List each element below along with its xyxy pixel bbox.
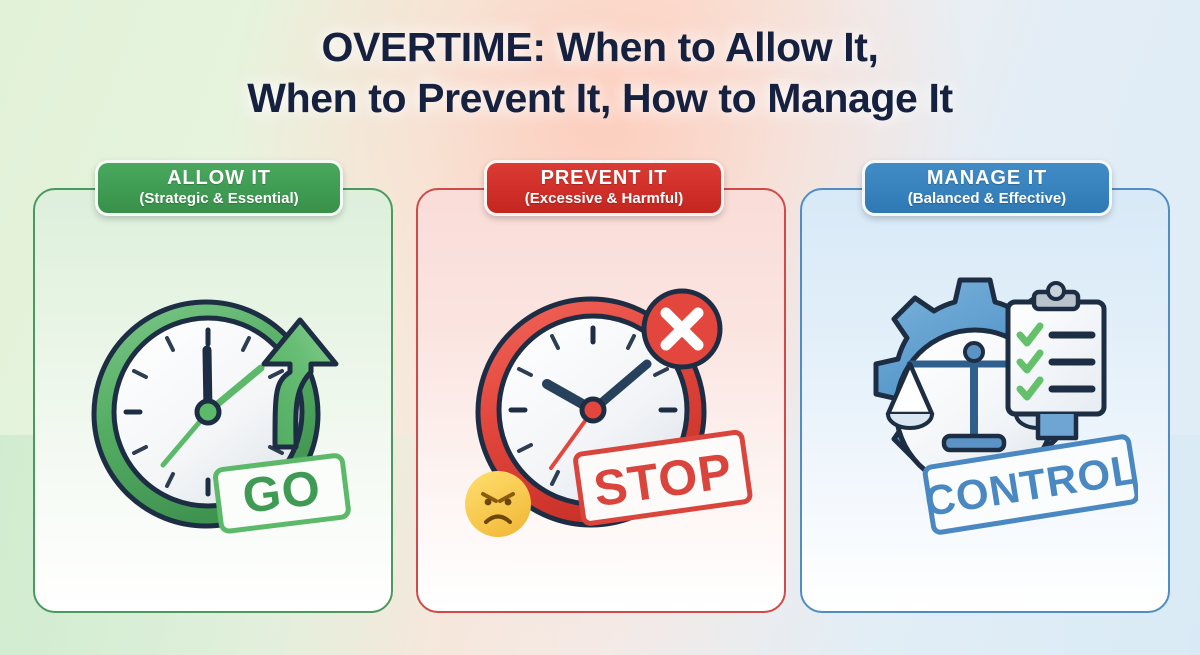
badge-prevent-title: PREVENT IT bbox=[541, 168, 668, 189]
badge-allow-title: ALLOW IT bbox=[167, 168, 271, 189]
illustration-prevent: STOP bbox=[455, 272, 755, 562]
svg-text:GO: GO bbox=[240, 461, 324, 524]
illustration-allow: GO bbox=[78, 272, 373, 562]
badge-allow-subtitle: (Strategic & Essential) bbox=[139, 190, 298, 207]
page-title-line-2: When to Prevent It, How to Manage It bbox=[0, 73, 1200, 124]
clipboard-checklist-icon bbox=[1008, 283, 1104, 438]
page-title-line-1: OVERTIME: When to Allow It, bbox=[0, 22, 1200, 73]
page-title: OVERTIME: When to Allow It, When to Prev… bbox=[0, 22, 1200, 125]
badge-manage-title: MANAGE IT bbox=[927, 168, 1047, 189]
x-circle-icon bbox=[644, 291, 720, 367]
sad-face-icon bbox=[465, 471, 531, 537]
badge-prevent[interactable]: PREVENT IT (Excessive & Harmful) bbox=[484, 160, 724, 216]
illustration-manage: CONTROL bbox=[838, 272, 1138, 562]
badge-allow[interactable]: ALLOW IT (Strategic & Essential) bbox=[95, 160, 343, 216]
go-stamp-icon: GO bbox=[215, 455, 350, 532]
badge-manage[interactable]: MANAGE IT (Balanced & Effective) bbox=[862, 160, 1112, 216]
badge-manage-subtitle: (Balanced & Effective) bbox=[908, 190, 1066, 207]
badge-prevent-subtitle: (Excessive & Harmful) bbox=[525, 190, 683, 207]
